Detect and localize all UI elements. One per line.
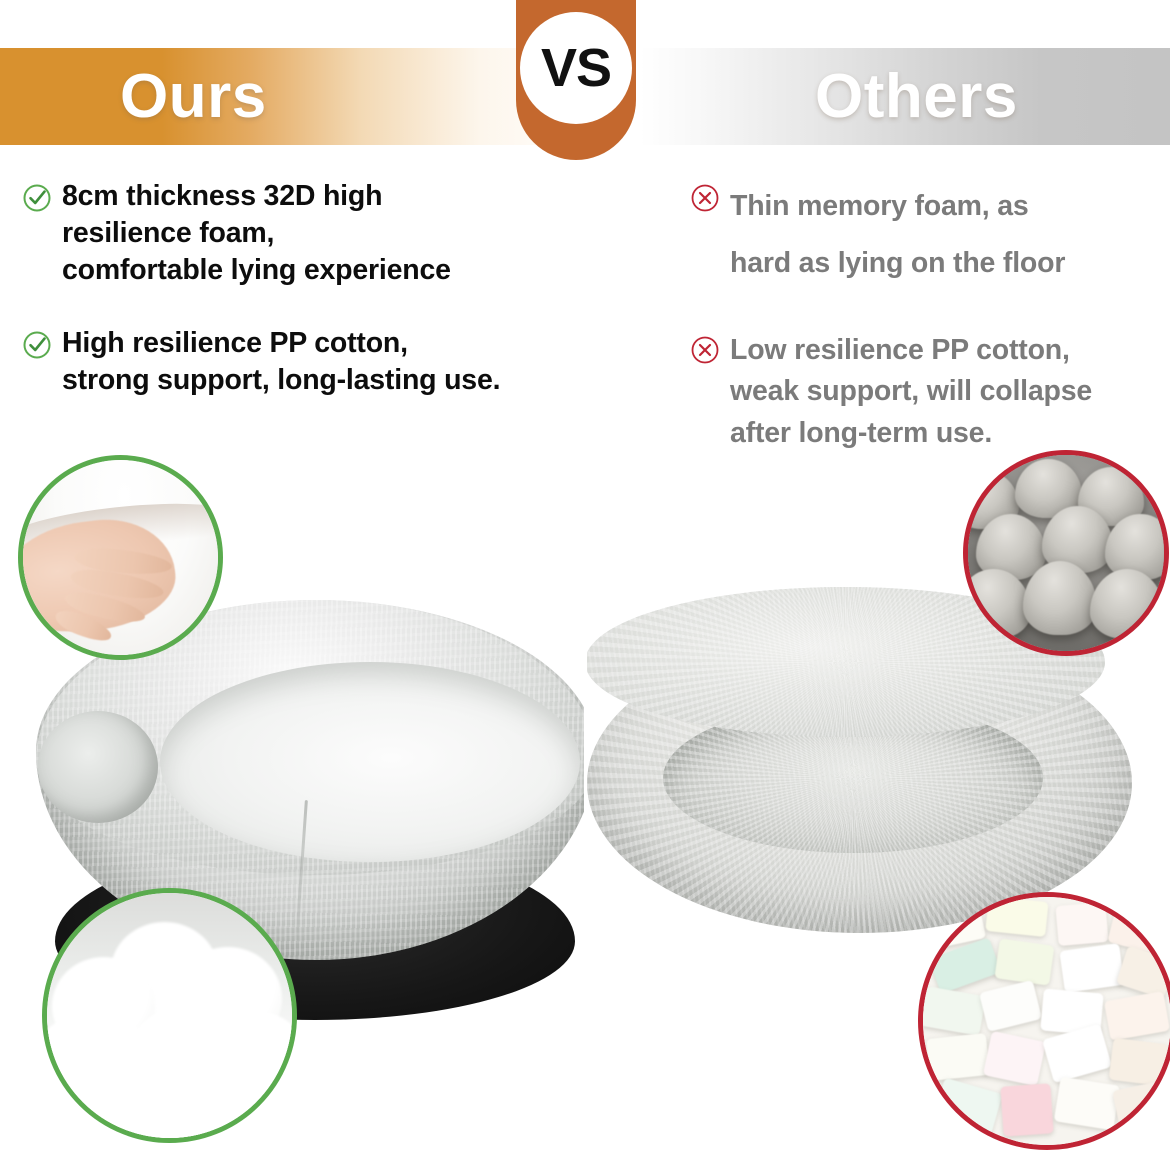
others-header-bar: Others (640, 48, 1170, 145)
comparison-infographic: Ours Others VS 8cm thickness 32D high re… (0, 0, 1170, 1158)
others-feature-item: Low resilience PP cotton, weak support, … (690, 330, 1170, 454)
ours-header-bar: Ours (0, 48, 600, 145)
vs-label: VS (541, 41, 611, 95)
ours-title: Ours (120, 66, 267, 128)
ours-feature-item: 8cm thickness 32D high resilience foam, … (22, 178, 637, 289)
inset-grey-egg-crate-foam (963, 450, 1169, 656)
inset-white-pp-cotton-fiber (42, 888, 297, 1143)
x-circle-icon (690, 183, 720, 213)
inset-hand-pressing-memory-foam (18, 455, 223, 660)
ours-feature-text: 8cm thickness 32D high resilience foam, … (62, 178, 451, 289)
x-circle-icon (690, 335, 720, 365)
ours-feature-list: 8cm thickness 32D high resilience foam, … (22, 178, 637, 399)
others-title: Others (815, 66, 1018, 128)
vs-circle: VS (520, 12, 632, 124)
others-feature-text: Low resilience PP cotton, weak support, … (730, 330, 1170, 454)
others-feature-item: Thin memory foam, as hard as lying on th… (690, 178, 1170, 292)
ours-feature-item: High resilience PP cotton, strong suppor… (22, 325, 637, 399)
ours-feature-text: High resilience PP cotton, strong suppor… (62, 325, 500, 399)
vs-badge: VS (516, 0, 636, 160)
inset-pastel-shredded-foam-chips (918, 892, 1170, 1150)
center-divider (584, 455, 587, 1158)
others-feature-text: Thin memory foam, as hard as lying on th… (730, 178, 1170, 292)
check-circle-icon (22, 330, 52, 360)
header: Ours Others VS (0, 0, 1170, 175)
check-circle-icon (22, 183, 52, 213)
others-feature-list: Thin memory foam, as hard as lying on th… (690, 178, 1170, 454)
bed-rim-fold-left (38, 711, 158, 823)
